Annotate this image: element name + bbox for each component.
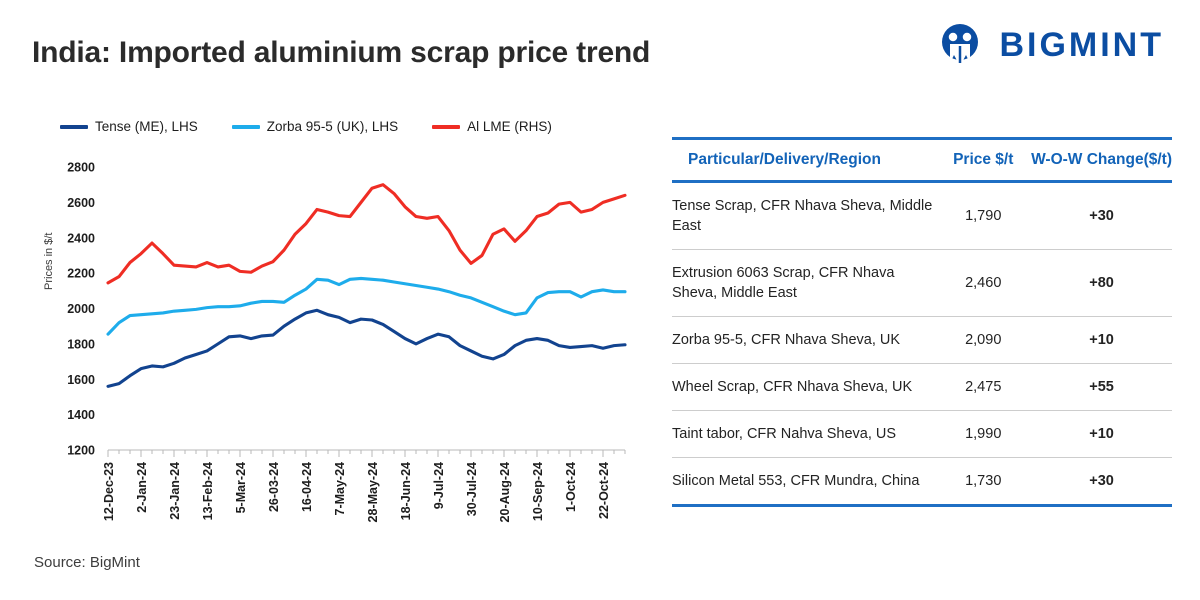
table-row[interactable]: Silicon Metal 553, CFR Mundra, China1,73… — [672, 458, 1172, 506]
x-axis-tick-label: 10-Sep-24 — [531, 462, 545, 521]
bigmint-logo-icon — [935, 20, 985, 70]
page-title: India: Imported aluminium scrap price tr… — [32, 36, 650, 70]
x-axis-tick-label: 28-May-24 — [366, 462, 380, 522]
price-table: Particular/Delivery/Region Price $/t W-O… — [672, 137, 1172, 507]
x-axis-tick-label: 30-Jul-24 — [465, 462, 479, 516]
legend-label: Al LME (RHS) — [467, 119, 552, 134]
x-axis-tick-label: 2-Jan-24 — [135, 462, 149, 513]
x-axis-tick-label: 12-Dec-23 — [102, 462, 116, 521]
cell-wow-change: +55 — [1031, 364, 1172, 411]
x-axis-tick-label: 20-Aug-24 — [498, 462, 512, 522]
cell-particular: Extrusion 6063 Scrap, CFR Nhava Sheva, M… — [672, 250, 935, 317]
table-row[interactable]: Wheel Scrap, CFR Nhava Sheva, UK2,475+55 — [672, 364, 1172, 411]
cell-price: 1,790 — [935, 182, 1031, 250]
y-axis-tick-label: 1800 — [67, 337, 95, 351]
legend-item-zorba[interactable]: Zorba 95-5 (UK), LHS — [232, 119, 398, 134]
chart-canvas: 12001400160018002000220024002600280012-D… — [0, 140, 660, 540]
x-axis-tick-label: 18-Jun-24 — [399, 462, 413, 520]
source-note: Source: BigMint — [34, 554, 140, 571]
x-axis-tick-label: 7-May-24 — [333, 462, 347, 516]
series-line-zorba — [108, 278, 625, 334]
column-header-price: Price $/t — [935, 139, 1031, 182]
cell-particular: Taint tabor, CFR Nahva Sheva, US — [672, 411, 935, 458]
series-line-tense — [108, 310, 625, 386]
cell-particular: Silicon Metal 553, CFR Mundra, China — [672, 458, 935, 506]
table-body: Tense Scrap, CFR Nhava Sheva, Middle Eas… — [672, 182, 1172, 506]
series-line-al — [108, 185, 625, 283]
column-header-particular: Particular/Delivery/Region — [672, 139, 935, 182]
cell-price: 1,730 — [935, 458, 1031, 506]
legend-item-al-lme[interactable]: Al LME (RHS) — [432, 119, 552, 134]
brand-name: BIGMINT — [999, 26, 1164, 65]
y-axis-tick-label: 2000 — [67, 302, 95, 316]
cell-price: 2,475 — [935, 364, 1031, 411]
brand-logo: BIGMINT — [935, 20, 1164, 70]
x-axis-tick-label: 26-03-24 — [267, 462, 281, 512]
cell-wow-change: +10 — [1031, 317, 1172, 364]
legend-label: Tense (ME), LHS — [95, 119, 198, 134]
y-axis-tick-label: 2200 — [67, 267, 95, 281]
cell-particular: Wheel Scrap, CFR Nhava Sheva, UK — [672, 364, 935, 411]
cell-wow-change: +30 — [1031, 458, 1172, 506]
cell-price: 1,990 — [935, 411, 1031, 458]
x-axis-tick-label: 13-Feb-24 — [201, 462, 215, 520]
legend-swatch-icon — [232, 125, 260, 129]
infographic-root: India: Imported aluminium scrap price tr… — [0, 0, 1200, 600]
x-axis-tick-label: 5-Mar-24 — [234, 462, 248, 513]
y-axis-tick-label: 2400 — [67, 231, 95, 245]
x-axis-tick-label: 1-Oct-24 — [564, 462, 578, 512]
legend-label: Zorba 95-5 (UK), LHS — [267, 119, 398, 134]
cell-wow-change: +30 — [1031, 182, 1172, 250]
column-header-change: W-O-W Change($/t) — [1031, 139, 1172, 182]
y-axis-tick-label: 2600 — [67, 196, 95, 210]
cell-wow-change: +10 — [1031, 411, 1172, 458]
chart-legend: Tense (ME), LHS Zorba 95-5 (UK), LHS Al … — [60, 119, 552, 134]
table-row[interactable]: Zorba 95-5, CFR Nhava Sheva, UK2,090+10 — [672, 317, 1172, 364]
y-axis-tick-label: 2800 — [67, 161, 95, 175]
table-row[interactable]: Tense Scrap, CFR Nhava Sheva, Middle Eas… — [672, 182, 1172, 250]
x-axis-tick-label: 22-Oct-24 — [597, 462, 611, 519]
table-row[interactable]: Extrusion 6063 Scrap, CFR Nhava Sheva, M… — [672, 250, 1172, 317]
cell-price: 2,460 — [935, 250, 1031, 317]
x-axis-tick-label: 23-Jan-24 — [168, 462, 182, 520]
y-axis-tick-label: 1600 — [67, 373, 95, 387]
x-axis-tick-label: 16-04-24 — [300, 462, 314, 512]
cell-price: 2,090 — [935, 317, 1031, 364]
cell-particular: Tense Scrap, CFR Nhava Sheva, Middle Eas… — [672, 182, 935, 250]
cell-particular: Zorba 95-5, CFR Nhava Sheva, UK — [672, 317, 935, 364]
line-chart: 12001400160018002000220024002600280012-D… — [0, 140, 660, 540]
legend-swatch-icon — [60, 125, 88, 129]
y-axis-title: Prices in $/t — [43, 233, 55, 290]
x-axis-tick-label: 9-Jul-24 — [432, 462, 446, 509]
y-axis-tick-label: 1200 — [67, 444, 95, 458]
legend-swatch-icon — [432, 125, 460, 129]
legend-item-tense[interactable]: Tense (ME), LHS — [60, 119, 198, 134]
table-header-row: Particular/Delivery/Region Price $/t W-O… — [672, 139, 1172, 182]
y-axis-tick-label: 1400 — [67, 408, 95, 422]
cell-wow-change: +80 — [1031, 250, 1172, 317]
table-row[interactable]: Taint tabor, CFR Nahva Sheva, US1,990+10 — [672, 411, 1172, 458]
